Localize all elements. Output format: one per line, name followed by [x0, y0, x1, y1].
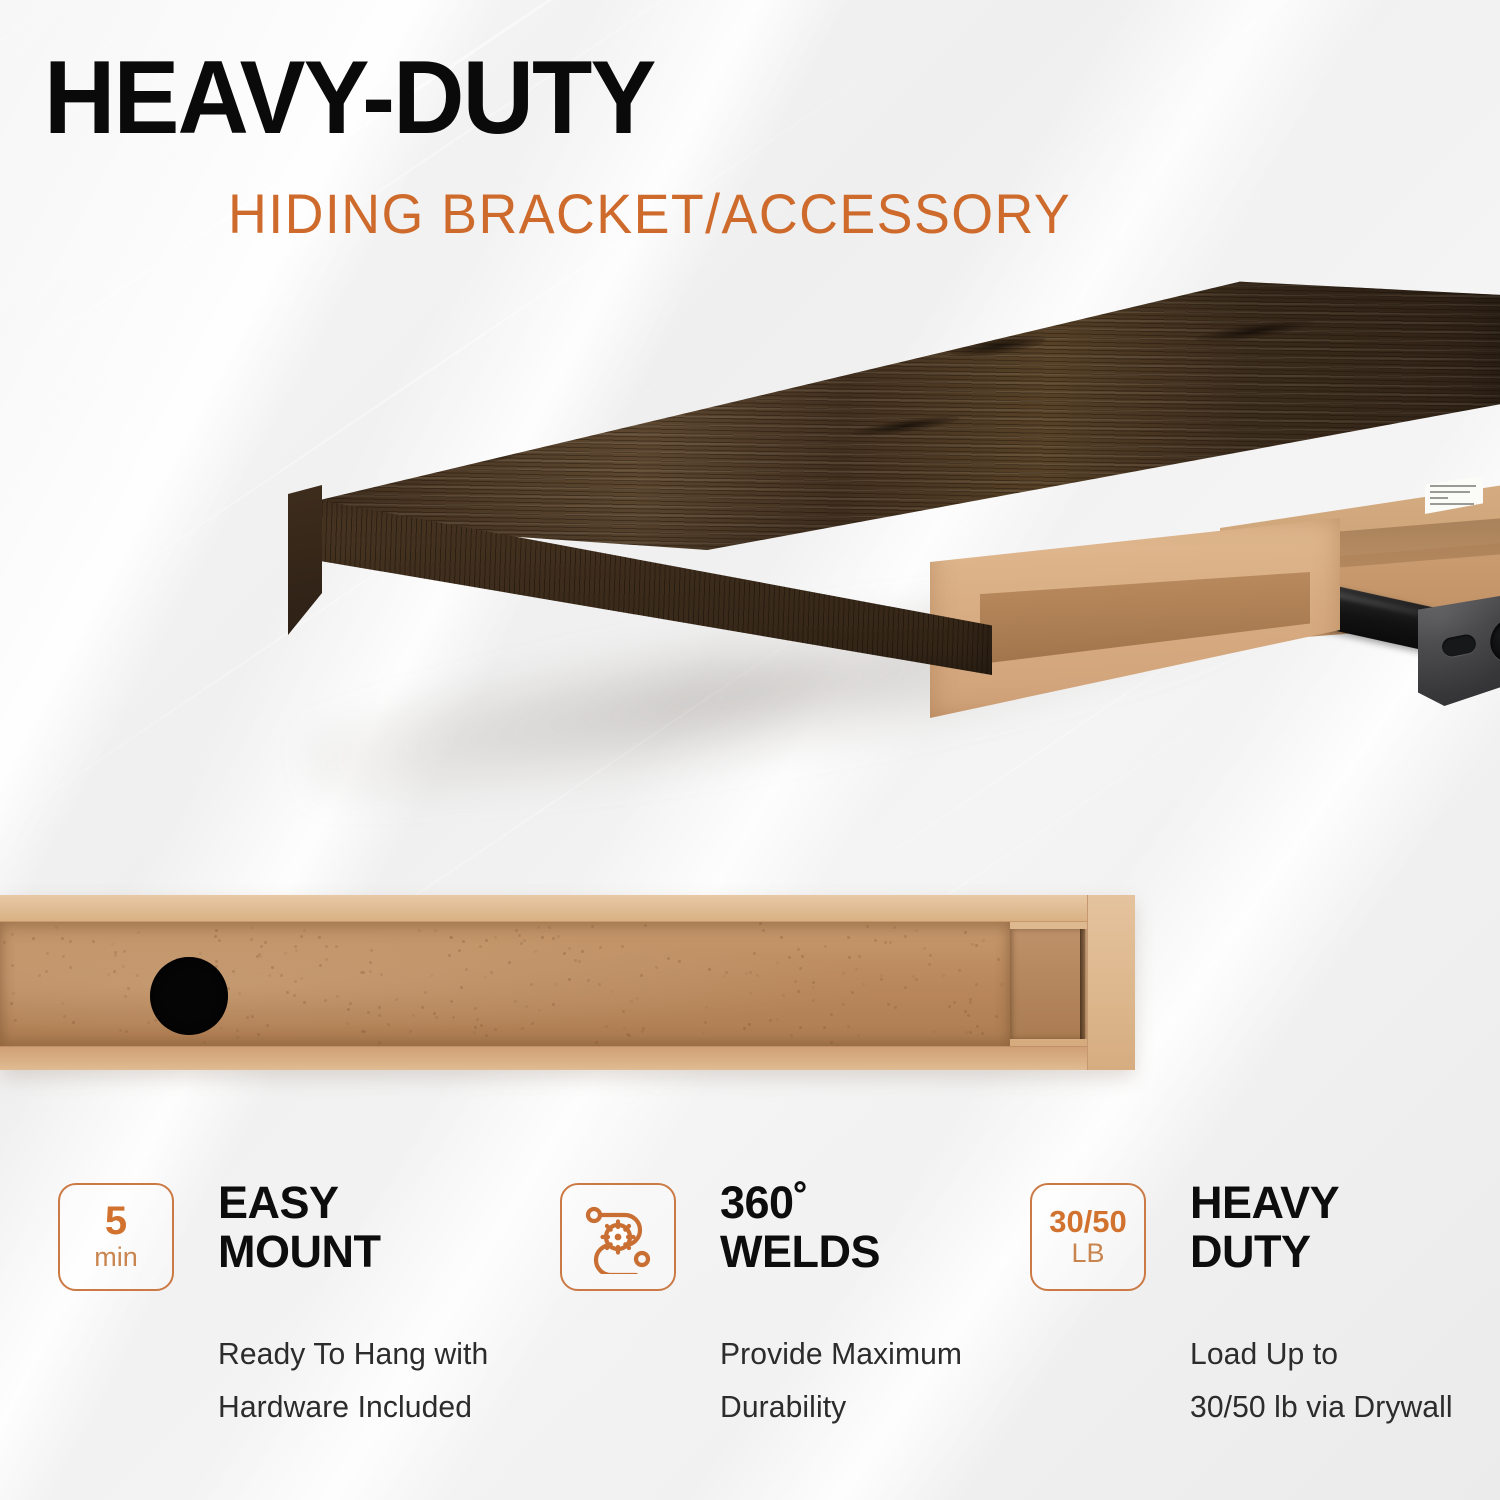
mdf-speck: [69, 966, 72, 969]
mdf-speck: [324, 999, 327, 1002]
mdf-speck: [236, 1036, 239, 1039]
mdf-speck: [534, 950, 537, 953]
mdf-speck: [997, 958, 1000, 961]
mdf-speck: [378, 1014, 381, 1017]
mdf-speck: [636, 997, 639, 1000]
mdf-speck: [452, 1016, 455, 1019]
mdf-speck: [515, 929, 518, 932]
mdf-speck: [904, 935, 907, 938]
mdf-speck: [708, 968, 711, 971]
channel-top-rail: [0, 895, 1135, 922]
feature-title-line1: 360˚: [720, 1179, 880, 1228]
mdf-speck: [923, 947, 926, 950]
weld-path-gear-icon: [560, 1183, 676, 1291]
channel-mounting-hole: [150, 957, 228, 1035]
mdf-speck: [395, 998, 398, 1001]
mdf-speck: [124, 995, 127, 998]
mdf-speck: [325, 945, 328, 948]
mdf-speck: [111, 943, 114, 946]
mdf-speck: [378, 1006, 381, 1009]
mdf-speck: [335, 945, 338, 948]
feature-title-line2: DUTY: [1190, 1228, 1339, 1277]
mdf-speck: [369, 961, 372, 964]
feature-title: 360˚ WELDS: [720, 1179, 880, 1276]
mdf-speck: [32, 937, 35, 940]
mdf-speck: [476, 1018, 479, 1021]
mdf-speck: [969, 998, 972, 1001]
mdf-speck: [259, 955, 262, 958]
channel-bottom-rail: [0, 1046, 1135, 1070]
mdf-speck: [568, 947, 571, 950]
mdf-speck: [557, 935, 560, 938]
mdf-speck: [303, 929, 306, 932]
mdf-speck: [418, 929, 421, 932]
mdf-speck: [294, 980, 297, 983]
mdf-speck: [591, 925, 594, 928]
mdf-speck: [295, 949, 298, 952]
mdf-speck: [318, 936, 321, 939]
mdf-speck: [541, 936, 544, 939]
mdf-speck: [147, 1021, 150, 1024]
mdf-speck: [250, 938, 253, 941]
mdf-speck: [11, 964, 14, 967]
mdf-speck: [552, 937, 555, 940]
mdf-speck: [799, 967, 802, 970]
feature-description: Load Up to 30/50 lb via Drywall: [1190, 1327, 1453, 1434]
load-capacity-badge: 30/50 LB: [1030, 1183, 1146, 1291]
mdf-speck: [969, 1031, 972, 1034]
mdf-speck: [10, 1002, 13, 1005]
mdf-speck: [655, 966, 658, 969]
mdf-speck: [293, 994, 296, 997]
mdf-speck: [349, 1002, 352, 1005]
mdf-speck: [114, 954, 117, 957]
mdf-speck: [460, 986, 463, 989]
mdf-speck: [851, 991, 854, 994]
mdf-speck: [514, 1000, 517, 1003]
channel-body: [0, 895, 1135, 1070]
mdf-speck: [369, 970, 372, 973]
mdf-speck: [958, 969, 961, 972]
mdf-speck: [260, 945, 263, 948]
mdf-speck: [975, 983, 978, 986]
mdf-speck: [136, 974, 139, 977]
mdf-speck: [847, 1025, 850, 1028]
mdf-speck: [122, 965, 125, 968]
feature-desc-line2: Hardware Included: [218, 1380, 488, 1433]
mdf-speck: [46, 952, 49, 955]
mdf-speck: [424, 991, 427, 994]
mdf-speck: [433, 1012, 436, 1015]
mdf-speck: [378, 1041, 381, 1044]
mdf-speck: [967, 1014, 970, 1017]
mdf-speck: [780, 936, 783, 939]
mdf-speck: [154, 1019, 157, 1022]
mdf-speck: [246, 1016, 249, 1019]
mdf-speck: [776, 961, 779, 964]
mdf-speck: [271, 966, 274, 969]
mdf-speck: [581, 950, 584, 953]
mdf-speck: [458, 949, 461, 952]
mdf-speck: [199, 952, 202, 955]
shelf-top-surface: [290, 280, 1500, 550]
mdf-speck: [790, 1034, 793, 1037]
feature-desc-line2: 30/50 lb via Drywall: [1190, 1380, 1453, 1433]
mdf-speck: [474, 1026, 477, 1029]
mdf-speck: [621, 945, 624, 948]
mdf-speck: [552, 1003, 555, 1006]
feature-row: 5 min EASY MOUNT Ready To Hang with Hard…: [0, 1175, 1500, 1475]
mdf-speck: [448, 954, 451, 957]
mdf-speck: [387, 1023, 390, 1026]
mdf-speck: [965, 1031, 968, 1034]
mdf-speck: [702, 1031, 705, 1034]
mdf-speck: [294, 945, 297, 948]
mdf-speck: [266, 1024, 269, 1027]
mdf-speck: [756, 974, 759, 977]
mdf-speck: [367, 1011, 370, 1014]
mdf-speck: [894, 1006, 897, 1009]
mdf-speck: [214, 935, 217, 938]
mdf-speck: [563, 952, 566, 955]
mdf-speck: [38, 974, 41, 977]
badge-value: 5: [105, 1201, 127, 1241]
mdf-speck: [362, 971, 365, 974]
mdf-speck: [705, 1006, 708, 1009]
mdf-speck: [942, 974, 945, 977]
mdf-speck: [723, 975, 726, 978]
mdf-speck: [409, 1030, 412, 1033]
mdf-speck: [319, 964, 322, 967]
mdf-speck: [823, 1026, 826, 1029]
mdf-speck: [14, 1019, 17, 1022]
mdf-speck: [107, 973, 110, 976]
shelf-assembly: [290, 280, 1500, 840]
mdf-speck: [284, 952, 287, 955]
mdf-speck: [479, 945, 482, 948]
mdf-speck: [801, 955, 804, 958]
mdf-speck: [238, 992, 241, 995]
mdf-speck: [346, 1022, 349, 1025]
feature-description: Ready To Hang with Hardware Included: [218, 1327, 488, 1434]
mdf-speck: [904, 986, 907, 989]
mdf-speck: [125, 1030, 128, 1033]
mdf-speck: [1000, 983, 1003, 986]
wood-grain-knot: [459, 444, 520, 466]
mdf-speck: [912, 975, 915, 978]
mdf-speck: [644, 924, 647, 927]
mdf-speck: [548, 926, 551, 929]
page-subtitle: HIDING BRACKET/ACCESSORY: [228, 186, 1071, 242]
mdf-speck: [933, 1030, 936, 1033]
mdf-speck: [474, 1007, 477, 1010]
mdf-speck: [360, 971, 363, 974]
mdf-speck: [858, 955, 861, 958]
mdf-speck: [127, 987, 130, 990]
mdf-speck: [55, 926, 58, 929]
mdf-speck: [928, 963, 931, 966]
mdf-speck: [830, 1041, 833, 1044]
mdf-speck: [982, 939, 985, 942]
mdf-speck: [842, 972, 845, 975]
mdf-speck: [485, 939, 488, 942]
mdf-speck: [300, 935, 303, 938]
mdf-speck: [280, 974, 283, 977]
mdf-speck: [92, 940, 95, 943]
mdf-speck: [462, 940, 465, 943]
mdf-speck: [490, 971, 493, 974]
mdf-speck: [286, 991, 289, 994]
mdf-speck: [480, 1024, 483, 1027]
feature-desc-line1: Provide Maximum: [720, 1327, 962, 1380]
mdf-speck: [981, 1032, 984, 1035]
mdf-speck: [880, 978, 883, 981]
mdf-speck: [325, 958, 328, 961]
mdf-speck: [884, 941, 887, 944]
mdf-speck: [538, 1009, 541, 1012]
mdf-speck: [119, 1029, 122, 1032]
mdf-speck: [794, 980, 797, 983]
mdf-speck: [494, 1028, 497, 1031]
mdf-speck: [531, 1022, 534, 1025]
mdf-speck: [598, 983, 601, 986]
mdf-speck: [520, 942, 523, 945]
mdf-speck: [812, 986, 815, 989]
mdf-speck: [72, 1021, 75, 1024]
mdf-speck: [623, 1027, 626, 1030]
mdf-speck: [336, 995, 339, 998]
mdf-speck: [473, 1031, 476, 1034]
mdf-speck: [220, 1027, 223, 1030]
mdf-speck: [749, 992, 752, 995]
mdf-speck: [449, 936, 452, 939]
mdf-speck: [769, 1019, 772, 1022]
mdf-speck: [971, 943, 974, 946]
mdf-speck: [530, 983, 533, 986]
mdf-speck: [215, 929, 218, 932]
channel-pocket-edge: [1080, 929, 1087, 1039]
mdf-speck: [69, 940, 72, 943]
mdf-speck: [61, 937, 64, 940]
feature-title-line1: HEAVY: [1190, 1179, 1339, 1228]
feature-title: EASY MOUNT: [218, 1179, 380, 1276]
mdf-speck: [866, 925, 869, 928]
mdf-speck: [370, 949, 373, 952]
mdf-speck: [521, 1027, 524, 1030]
mdf-speck: [964, 931, 967, 934]
mdf-speck: [797, 948, 800, 951]
mdf-speck: [123, 950, 126, 953]
mdf-speck: [578, 960, 581, 963]
mdf-speck: [975, 944, 978, 947]
mdf-speck: [667, 957, 670, 960]
mdf-speck: [857, 1034, 860, 1037]
mdf-speck: [995, 1015, 998, 1018]
feature-title-line2: WELDS: [720, 1228, 880, 1277]
mdf-speck: [363, 1030, 366, 1033]
mdf-speck: [599, 946, 602, 949]
mdf-speck: [236, 1029, 239, 1032]
mdf-speck: [788, 956, 791, 959]
mdf-speck: [537, 926, 540, 929]
mdf-speck: [251, 1015, 254, 1018]
feature-desc-line2: Durability: [720, 1380, 962, 1433]
mdf-speck: [610, 990, 613, 993]
wood-grain-knot: [949, 331, 1046, 360]
mdf-speck: [753, 952, 756, 955]
mdf-speck: [3, 941, 6, 944]
mdf-speck: [862, 983, 865, 986]
mdf-speck: [748, 1023, 751, 1026]
mdf-speck: [215, 960, 218, 963]
product-photo-channel-closeup: [0, 895, 1135, 1095]
mdf-speck: [494, 936, 497, 939]
mdf-speck: [508, 961, 511, 964]
mdf-speck: [605, 1025, 608, 1028]
channel-end-pocket: [1010, 929, 1085, 1039]
mdf-speck: [704, 1021, 707, 1024]
mdf-speck: [745, 972, 748, 975]
feature-desc-line1: Load Up to: [1190, 1327, 1453, 1380]
mdf-speck: [268, 974, 271, 977]
mdf-speck: [430, 974, 433, 977]
mdf-speck: [587, 979, 590, 982]
shelf-left-end-cap: [288, 485, 322, 635]
mdf-speck: [948, 1005, 951, 1008]
badge-unit: min: [94, 1243, 138, 1273]
mdf-speck: [380, 973, 383, 976]
mdf-speck: [641, 1030, 644, 1033]
mdf-speck: [450, 1000, 453, 1003]
mdf-speck: [518, 934, 521, 937]
mdf-speck: [812, 999, 815, 1002]
mdf-speck: [630, 1000, 633, 1003]
mdf-speck: [880, 974, 883, 977]
mdf-speck: [678, 960, 681, 963]
mdf-speck: [264, 941, 267, 944]
mdf-speck: [953, 1001, 956, 1004]
mdf-speck: [725, 971, 728, 974]
mdf-speck: [976, 1025, 979, 1028]
mdf-speck: [743, 1027, 746, 1030]
mdf-speck: [137, 931, 140, 934]
mdf-speck: [889, 941, 892, 944]
mdf-speck: [300, 977, 303, 980]
mdf-speck: [525, 1005, 528, 1008]
mdf-speck: [964, 1010, 967, 1013]
feature-title: HEAVY DUTY: [1190, 1179, 1339, 1276]
mdf-speck: [749, 971, 752, 974]
badge-unit: LB: [1071, 1239, 1104, 1269]
mdf-speck: [435, 1016, 438, 1019]
mdf-speck: [915, 929, 918, 932]
mdf-speck: [434, 929, 437, 932]
mdf-speck: [929, 954, 932, 957]
mdf-speck: [640, 974, 643, 977]
feature-title-line1: EASY: [218, 1179, 380, 1228]
mdf-speck: [568, 978, 571, 981]
mdf-speck: [574, 959, 577, 962]
mdf-speck: [628, 1034, 631, 1037]
mdf-speck: [887, 1003, 890, 1006]
mdf-speck: [347, 1008, 350, 1011]
mdf-speck: [412, 1014, 415, 1017]
mdf-speck: [465, 968, 468, 971]
channel-right-end-face: [1087, 895, 1135, 1070]
mdf-speck: [824, 945, 827, 948]
clock-5-min-badge: 5 min: [58, 1183, 174, 1291]
mdf-speck: [303, 1001, 306, 1004]
mdf-speck: [799, 1026, 802, 1029]
page-title: HEAVY-DUTY: [44, 46, 654, 150]
product-photo-angled-shelf: [0, 255, 1500, 855]
mdf-speck: [830, 1013, 833, 1016]
mdf-speck: [232, 970, 235, 973]
mdf-speck: [485, 1034, 488, 1037]
mdf-speck: [218, 939, 221, 942]
mdf-speck: [62, 955, 65, 958]
mdf-speck: [969, 1001, 972, 1004]
mdf-speck: [203, 1041, 206, 1044]
mdf-speck: [523, 939, 526, 942]
mdf-speck: [762, 929, 765, 932]
mdf-speck: [842, 1003, 845, 1006]
mdf-speck: [622, 1010, 625, 1013]
wood-grain-knot: [1195, 316, 1316, 347]
mdf-speck: [782, 994, 785, 997]
mdf-speck: [848, 956, 851, 959]
mdf-speck: [812, 981, 815, 984]
mdf-speck: [61, 1002, 64, 1005]
mdf-speck: [257, 1033, 260, 1036]
mdf-speck: [421, 1006, 424, 1009]
mdf-speck: [874, 939, 877, 942]
mdf-speck: [797, 990, 800, 993]
mdf-speck: [11, 933, 14, 936]
mdf-speck: [759, 922, 762, 925]
mdf-speck: [63, 1015, 66, 1018]
mdf-speck: [12, 992, 15, 995]
mdf-speck: [776, 1018, 779, 1021]
mdf-speck: [915, 978, 918, 981]
feature-desc-line1: Ready To Hang with: [218, 1327, 488, 1380]
mdf-speck: [113, 970, 116, 973]
wood-grain-knot: [850, 412, 961, 439]
feature-description: Provide Maximum Durability: [720, 1327, 962, 1434]
mdf-speck: [847, 936, 850, 939]
badge-value: 30/50: [1049, 1206, 1127, 1237]
mdf-speck: [595, 1041, 598, 1044]
mdf-speck: [855, 968, 858, 971]
mdf-speck: [251, 926, 254, 929]
mdf-speck: [45, 970, 48, 973]
wood-grain-knot: [619, 387, 693, 417]
mdf-speck: [554, 983, 557, 986]
feature-title-line2: MOUNT: [218, 1228, 380, 1277]
mdf-speck: [893, 926, 896, 929]
mdf-speck: [484, 976, 487, 979]
